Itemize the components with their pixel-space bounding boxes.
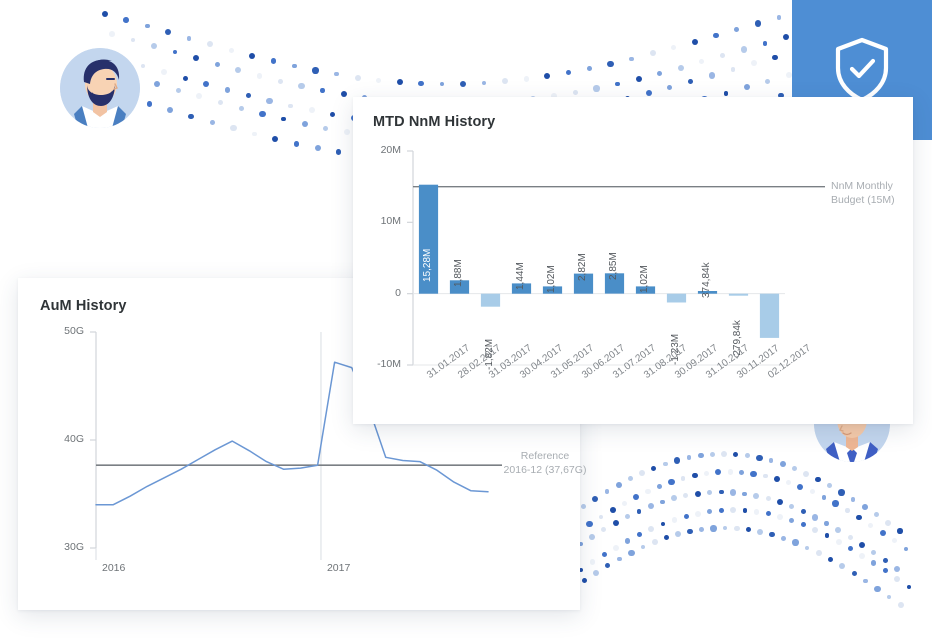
decorative-dot	[602, 552, 607, 557]
decorative-dot	[225, 87, 231, 93]
decorative-dot	[637, 532, 642, 537]
decorative-dot	[648, 526, 654, 532]
decorative-dot	[692, 39, 698, 45]
decorative-dot	[622, 501, 627, 506]
decorative-dot	[684, 514, 689, 519]
decorative-dot	[278, 79, 283, 84]
decorative-dot	[765, 79, 770, 84]
decorative-dot	[863, 579, 868, 584]
decorative-dot	[851, 497, 855, 501]
decorative-dot	[657, 71, 662, 76]
aum-x-tick-label: 2016	[102, 562, 125, 574]
decorative-dot	[123, 17, 129, 23]
avatar-bearded-man	[60, 48, 140, 128]
decorative-dot	[719, 490, 724, 495]
decorative-dot	[607, 61, 613, 67]
decorative-dot	[355, 75, 361, 81]
decorative-dot	[147, 101, 152, 106]
decorative-dot	[704, 471, 709, 476]
decorative-dot	[334, 72, 338, 76]
decorative-dot	[341, 91, 347, 97]
decorative-dot	[281, 117, 285, 121]
mtd-panel-title: MTD NnM History	[373, 114, 495, 130]
decorative-dot	[323, 126, 328, 131]
decorative-dot	[754, 509, 760, 515]
decorative-dot	[592, 496, 598, 502]
decorative-dot	[288, 104, 292, 108]
decorative-dot	[315, 145, 321, 151]
decorative-dot	[259, 111, 265, 117]
decorative-dot	[789, 504, 794, 509]
decorative-dot	[675, 531, 681, 537]
decorative-dot	[188, 114, 194, 120]
decorative-dot	[720, 53, 725, 58]
aum-y-tick-label: 30G	[28, 541, 84, 553]
decorative-dot	[777, 514, 783, 520]
decorative-dot	[639, 470, 645, 476]
mtd-bar-value-label: 2,85M	[608, 253, 619, 281]
decorative-dot	[719, 508, 724, 513]
shield-check-icon	[833, 37, 891, 103]
decorative-dot	[109, 31, 115, 37]
decorative-dot	[695, 511, 701, 517]
mtd-budget-note: NnM MonthlyBudget (15M)	[831, 179, 927, 207]
decorative-dot	[695, 491, 701, 497]
decorative-dot	[183, 76, 188, 81]
decorative-dot	[803, 471, 809, 477]
decorative-dot	[838, 489, 844, 495]
decorative-dot	[218, 100, 224, 106]
decorative-dot	[741, 46, 747, 52]
decorative-dot	[801, 509, 806, 514]
decorative-dot	[777, 15, 781, 19]
decorative-dot	[897, 528, 902, 533]
decorative-dot	[544, 73, 550, 79]
decorative-dot	[636, 76, 642, 82]
decorative-dot	[731, 67, 735, 71]
decorative-dot	[874, 586, 880, 592]
decorative-dot	[593, 570, 599, 576]
decorative-dot	[645, 489, 650, 494]
decorative-dot	[724, 91, 728, 95]
decorative-dot	[599, 515, 603, 519]
decorative-dot	[660, 500, 664, 504]
decorative-dot	[187, 36, 191, 40]
decorative-dot	[856, 515, 862, 521]
mtd-budget-note-line2: Budget (15M)	[831, 193, 927, 207]
decorative-dot	[892, 538, 897, 543]
aum-x-tick-label: 2017	[327, 562, 350, 574]
decorative-dot	[709, 72, 715, 78]
decorative-dot	[671, 495, 677, 501]
decorative-dot	[590, 559, 596, 565]
decorative-dot	[668, 479, 674, 485]
decorative-dot	[272, 136, 278, 142]
decorative-dot	[845, 508, 849, 512]
decorative-dot	[625, 538, 630, 543]
decorative-dot	[664, 535, 669, 540]
decorative-dot	[587, 66, 592, 71]
decorative-dot	[657, 484, 662, 489]
decorative-dot	[792, 539, 798, 545]
decorative-dot	[742, 492, 746, 496]
decorative-dot	[801, 522, 806, 527]
decorative-dot	[502, 78, 508, 84]
decorative-dot	[721, 451, 727, 457]
decorative-dot	[687, 529, 692, 534]
mtd-bar-value-label: 15,28M	[422, 248, 433, 281]
decorative-dot	[792, 466, 797, 471]
decorative-dot	[593, 85, 599, 91]
decorative-dot	[633, 494, 639, 500]
decorative-dot	[674, 457, 680, 463]
decorative-dot	[753, 493, 759, 499]
decorative-dot	[230, 125, 236, 131]
decorative-dot	[271, 58, 277, 64]
decorative-dot	[678, 65, 684, 71]
decorative-dot	[266, 98, 272, 104]
decorative-dot	[728, 469, 733, 474]
decorative-dot	[418, 81, 424, 87]
decorative-dot	[298, 83, 304, 89]
mtd-y-tick-label: 10M	[359, 215, 401, 227]
decorative-dot	[651, 466, 656, 471]
decorative-dot	[832, 500, 838, 506]
decorative-dot	[859, 542, 865, 548]
decorative-dot	[810, 489, 815, 494]
decorative-dot	[605, 563, 610, 568]
decorative-dot	[210, 120, 215, 125]
decorative-dot	[397, 79, 403, 85]
decorative-dot	[769, 458, 773, 462]
decorative-dot	[161, 69, 167, 75]
decorative-dot	[733, 452, 738, 457]
decorative-dot	[336, 149, 342, 155]
aum-reference-note-line2: 2016-12 (37,67G)	[490, 463, 600, 477]
mtd-y-tick-label: -10M	[359, 358, 401, 370]
decorative-dot	[440, 82, 445, 87]
decorative-dot	[628, 550, 634, 556]
decorative-dot	[671, 45, 676, 50]
decorative-dot	[887, 595, 891, 599]
decorative-dot	[566, 70, 572, 76]
decorative-dot	[743, 508, 747, 512]
decorative-dot	[805, 546, 809, 550]
decorative-dot	[723, 526, 727, 530]
decorative-dot	[755, 20, 761, 26]
decorative-dot	[193, 55, 199, 61]
decorative-dot	[692, 473, 698, 479]
decorative-dot	[763, 474, 767, 478]
decorative-dot	[812, 514, 818, 520]
decorative-dot	[746, 527, 751, 532]
decorative-dot	[710, 452, 715, 457]
decorative-dot	[772, 55, 777, 60]
decorative-dot	[344, 129, 350, 135]
decorative-dot	[616, 482, 622, 488]
decorative-dot	[769, 532, 774, 537]
decorative-dot	[859, 553, 865, 559]
decorative-dot	[683, 493, 688, 498]
decorative-dot	[734, 526, 740, 532]
decorative-dot	[330, 112, 335, 117]
decorative-dot	[167, 107, 173, 113]
decorative-dot	[687, 455, 691, 459]
decorative-dot	[215, 62, 220, 67]
decorative-dot	[661, 522, 665, 526]
decorative-dot	[239, 106, 244, 111]
decorative-dot	[482, 81, 486, 85]
decorative-dot	[605, 489, 609, 493]
decorative-dot	[789, 518, 794, 523]
decorative-dot	[848, 546, 853, 551]
decorative-dot	[582, 578, 587, 583]
decorative-dot	[781, 536, 786, 541]
decorative-dot	[102, 11, 108, 17]
mtd-bar-value-label: 1,88M	[453, 259, 464, 287]
decorative-dot	[196, 93, 202, 99]
mtd-y-tick-label: 20M	[359, 144, 401, 156]
decorative-dot	[615, 82, 619, 86]
decorative-dot	[904, 547, 909, 552]
decorative-dot	[131, 38, 136, 43]
decorative-dot	[871, 550, 876, 555]
decorative-dot	[613, 520, 619, 526]
decorative-dot	[294, 141, 299, 146]
decorative-dot	[745, 453, 750, 458]
decorative-dot	[707, 509, 712, 514]
decorative-dot	[648, 503, 654, 509]
decorative-dot	[750, 471, 756, 477]
decorative-dot	[573, 90, 578, 95]
mtd-bar-value-label: 1,44M	[515, 263, 526, 291]
decorative-dot	[637, 509, 642, 514]
decorative-dot	[165, 29, 171, 35]
decorative-dot	[824, 521, 828, 525]
decorative-dot	[586, 521, 592, 527]
decorative-dot	[780, 461, 786, 467]
mtd-bar-chart[interactable]: -10M010M20M15,28M1,88M-1,82M1,44M1,02M2,…	[359, 137, 907, 417]
decorative-dot	[827, 483, 832, 488]
decorative-dot	[252, 132, 256, 136]
decorative-dot	[907, 585, 911, 589]
decorative-dot	[815, 477, 820, 482]
decorative-dot	[783, 34, 789, 40]
decorative-dot	[641, 545, 645, 549]
decorative-dot	[894, 566, 900, 572]
decorative-dot	[646, 90, 652, 96]
decorative-dot	[699, 527, 704, 532]
decorative-dot	[229, 48, 234, 53]
decorative-dot	[756, 455, 762, 461]
decorative-dot	[774, 476, 780, 482]
decorative-dot	[613, 545, 619, 551]
decorative-dot	[763, 41, 767, 45]
decorative-dot	[812, 527, 818, 533]
mtd-y-tick-label: 0	[359, 287, 401, 299]
decorative-dot	[207, 41, 213, 47]
mtd-bar-value-label: 1,02M	[546, 266, 557, 294]
decorative-dot	[730, 489, 736, 495]
decorative-dot	[681, 476, 685, 480]
decorative-dot	[141, 64, 145, 68]
decorative-dot	[822, 495, 827, 500]
decorative-dot	[786, 480, 791, 485]
decorative-dot	[650, 50, 656, 56]
decorative-dot	[151, 43, 157, 49]
decorative-dot	[707, 490, 712, 495]
decorative-dot	[376, 78, 381, 83]
decorative-dot	[460, 81, 466, 87]
decorative-dot	[617, 557, 622, 562]
mtd-bar-value-label: 374,84k	[701, 262, 712, 298]
decorative-dot	[699, 59, 705, 65]
decorative-dot	[898, 602, 904, 608]
decorative-dot	[145, 24, 150, 29]
decorative-dot	[610, 507, 616, 513]
decorative-dot	[839, 563, 845, 569]
decorative-dot	[246, 93, 251, 98]
decorative-dot	[874, 512, 879, 517]
decorative-dot	[698, 453, 704, 459]
aum-y-tick-label: 40G	[28, 433, 84, 445]
decorative-dot	[885, 520, 891, 526]
decorative-dot	[173, 50, 177, 54]
decorative-dot	[766, 511, 771, 516]
decorative-dot	[852, 571, 857, 576]
decorative-dot	[757, 529, 763, 535]
decorative-dot	[797, 484, 803, 490]
decorative-dot	[828, 557, 833, 562]
decorative-dot	[766, 496, 771, 501]
decorative-dot	[848, 535, 853, 540]
decorative-dot	[309, 107, 315, 113]
mtd-bar-value-label: 1,02M	[639, 266, 650, 294]
decorative-dot	[601, 527, 606, 532]
decorative-dot	[581, 504, 586, 509]
decorative-dot	[816, 550, 822, 556]
decorative-dot	[589, 534, 595, 540]
decorative-dot	[249, 53, 255, 59]
decorative-dot	[292, 64, 297, 69]
decorative-dot	[628, 476, 633, 481]
decorative-dot	[751, 60, 757, 66]
decorative-dot	[625, 514, 630, 519]
decorative-dot	[744, 84, 750, 90]
decorative-dot	[257, 73, 263, 79]
decorative-dot	[663, 462, 668, 467]
decorative-dot	[883, 568, 888, 573]
aum-panel-title: AuM History	[40, 298, 127, 314]
decorative-dot	[868, 523, 873, 528]
decorative-dot	[871, 560, 876, 565]
decorative-dot	[713, 33, 719, 39]
mtd-nnm-history-panel[interactable]: MTD NnM History -10M010M20M15,28M1,88M-1…	[353, 97, 913, 424]
aum-reference-note-line1: Reference	[490, 449, 600, 463]
decorative-dot	[825, 533, 829, 537]
decorative-dot	[835, 527, 841, 533]
decorative-dot	[203, 81, 209, 87]
decorative-dot	[734, 27, 739, 32]
decorative-dot	[154, 81, 160, 87]
screen-background: AuM History 30G40G50G20162017Reference20…	[0, 0, 932, 640]
mtd-budget-note-line1: NnM Monthly	[831, 179, 927, 193]
decorative-dot	[836, 539, 842, 545]
aum-reference-note: Reference2016-12 (37,67G)	[490, 449, 600, 477]
decorative-dot	[524, 76, 529, 81]
mtd-bar-value-label: 2,82M	[577, 253, 588, 281]
decorative-dot	[672, 517, 678, 523]
decorative-dot	[777, 499, 783, 505]
decorative-dot	[894, 576, 900, 582]
decorative-dot	[176, 88, 181, 93]
decorative-dot	[667, 85, 673, 91]
decorative-dot	[302, 121, 308, 127]
decorative-dot	[312, 67, 318, 73]
decorative-dot	[880, 530, 886, 536]
decorative-dot	[629, 57, 633, 61]
aum-y-tick-label: 50G	[28, 325, 84, 337]
decorative-dot	[715, 469, 721, 475]
decorative-dot	[739, 470, 744, 475]
decorative-dot	[320, 88, 324, 92]
decorative-dot	[730, 507, 736, 513]
decorative-dot	[652, 539, 658, 545]
decorative-dot	[235, 67, 241, 73]
decorative-dot	[883, 558, 888, 563]
decorative-dot	[688, 79, 693, 84]
decorative-dot	[862, 504, 868, 510]
decorative-dot	[710, 525, 716, 531]
